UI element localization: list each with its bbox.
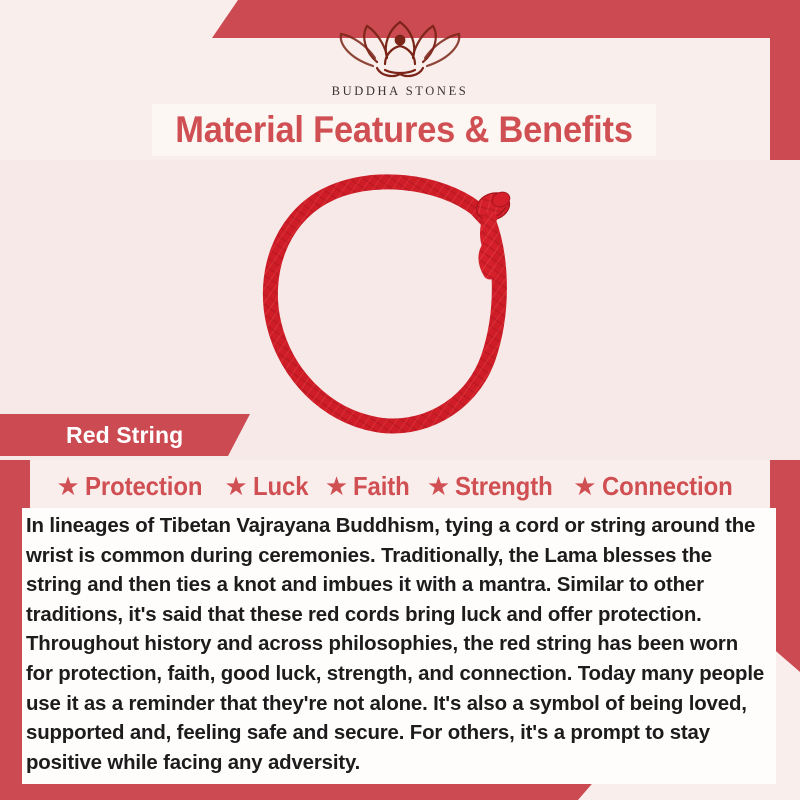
star-icon: ★ — [224, 473, 247, 499]
benefits-row: ★ Protection ★ Luck ★ Faith ★ Strength ★… — [0, 464, 800, 508]
benefit-label: Connection — [602, 471, 733, 502]
benefit-item: ★ Strength — [427, 471, 561, 502]
product-image-red-string-bracelet — [250, 163, 550, 458]
star-icon: ★ — [325, 473, 348, 499]
star-icon: ★ — [56, 473, 79, 499]
benefit-item: ★ Faith — [325, 471, 415, 502]
material-label-banner: Red String — [0, 414, 250, 456]
braided-cord-illustration — [250, 163, 550, 453]
benefit-label: Faith — [353, 471, 410, 502]
page-title: Material Features & Benefits — [175, 109, 633, 151]
description-paragraph: In lineages of Tibetan Vajrayana Buddhis… — [22, 512, 776, 778]
lotus-meditation-icon — [315, 14, 485, 82]
benefit-label: Strength — [455, 471, 553, 502]
brand-wordmark: BUDDHA STONES — [0, 84, 800, 99]
star-icon: ★ — [573, 473, 596, 499]
benefit-item: ★ Protection — [56, 471, 212, 502]
infographic-poster: BUDDHA STONES Material Features & Benefi… — [0, 0, 800, 800]
brand-logo: BUDDHA STONES — [0, 14, 800, 99]
benefit-item: ★ Connection — [573, 471, 743, 502]
material-label-text: Red String — [66, 422, 183, 449]
title-banner: Material Features & Benefits — [152, 104, 656, 156]
benefit-label: Protection — [85, 471, 202, 502]
star-icon: ★ — [427, 473, 450, 499]
benefit-label: Luck — [253, 471, 308, 502]
description-panel: In lineages of Tibetan Vajrayana Buddhis… — [22, 508, 776, 784]
benefit-item: ★ Luck — [224, 471, 313, 502]
